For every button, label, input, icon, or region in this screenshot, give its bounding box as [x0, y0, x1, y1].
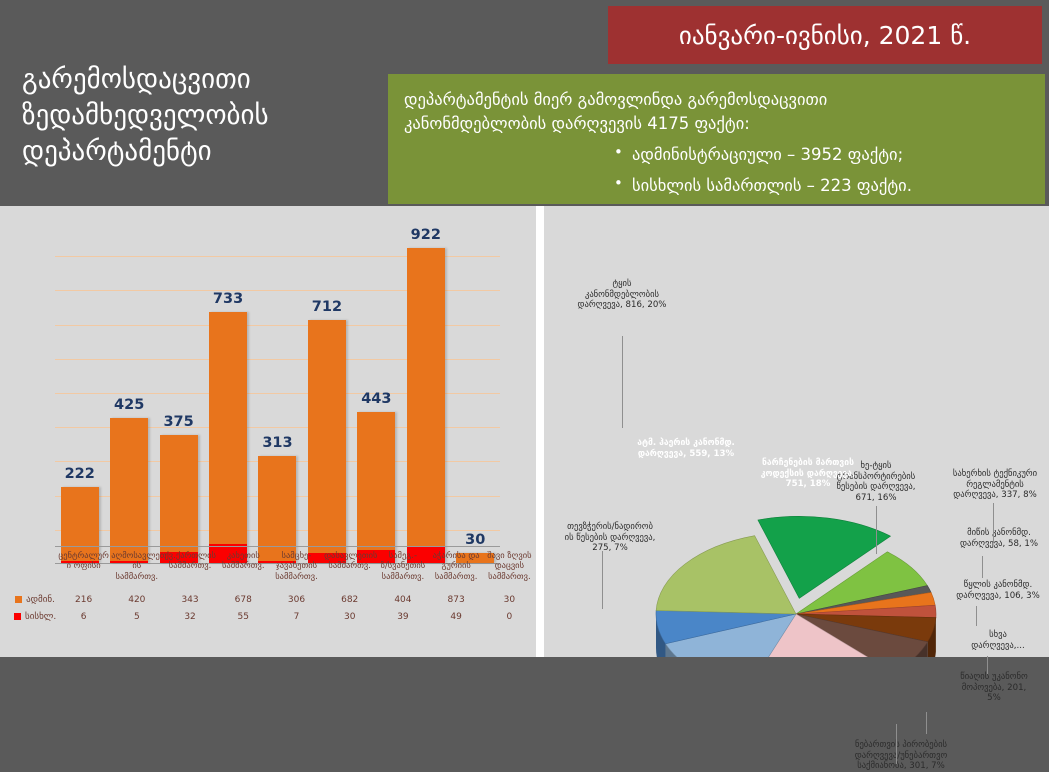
bar-group[interactable]: 733 [203, 222, 252, 563]
legend-label-criminal: სისხლ. [25, 612, 56, 622]
legend-item-administrative: ადმინ. [0, 592, 57, 609]
bar-segment-administrative[interactable] [308, 320, 346, 553]
bar-segment-administrative[interactable] [357, 412, 395, 550]
bar-column[interactable] [407, 248, 445, 563]
pie-slice-label: სახერხის ტექნიკური რეგლამენტის დარღვევა,… [941, 469, 1049, 501]
pie-leader-line [602, 551, 603, 609]
table-category-cell: ცენტრალურ ი ოფისი [57, 546, 110, 592]
table-category-cell: შავი ზღვის დაცვის სამმართვ. [483, 546, 536, 592]
panel-divider [536, 206, 544, 657]
pie-slice-label: ნებართვის პირობების დარღვევა/უნებართვო ს… [826, 740, 976, 772]
bar-segment-administrative[interactable] [110, 418, 148, 562]
bar-segment-administrative[interactable] [160, 435, 198, 552]
bar-value-label: 375 [154, 414, 203, 430]
table-category-cell: აჭარისა და გურიის სამმართვ. [430, 546, 483, 592]
table-value-cell: 55 [217, 609, 270, 626]
table-value-cell: 5 [110, 609, 163, 626]
table-value-cell: 216 [57, 592, 110, 609]
summary-box: დეპარტამენტის მიერ გამოვლინდა გარემოსდაც… [388, 74, 1045, 204]
bar-column[interactable] [209, 312, 247, 563]
pie-chart-area: ხე-ტყის ტრანსპორტირების წესების დარღვევა… [544, 206, 1049, 657]
pie-slice-label: ატმ. ჰაერის კანონმდ. დარღვევა, 559, 13% [622, 438, 750, 459]
pie-leader-line [926, 712, 927, 734]
table-value-cell: 420 [110, 592, 163, 609]
table-value-cell: 678 [217, 592, 270, 609]
slide-header: გარემოსდაცვითი ზედამხედველობის დეპარტამე… [0, 0, 1049, 206]
table-top-rule [55, 546, 500, 547]
table-category-cell: სამცხე- ჯავახეთის სამმართვ. [270, 546, 323, 592]
bar-column[interactable] [308, 320, 346, 564]
table-value-cell: 404 [376, 592, 429, 609]
summary-intro: დეპარტამენტის მიერ გამოვლინდა გარემოსდაც… [404, 88, 1029, 136]
table-value-cell: 7 [270, 609, 323, 626]
page-title: გარემოსდაცვითი ზედამხედველობის დეპარტამე… [22, 62, 372, 170]
bar-column[interactable] [357, 412, 395, 564]
pie-chart-panel: ხე-ტყის ტრანსპორტირების წესების დარღვევა… [544, 206, 1049, 657]
pie-slice-label: მიწის კანონმდ. დარღვევა, 58, 1% [949, 528, 1049, 549]
bar-data-table: ცენტრალურ ი ოფისიაღმოსავლეთ ის სამმართვ.… [0, 546, 536, 656]
bar-value-label: 313 [253, 435, 302, 451]
table-category-cell: სამეგ.- ზ/სვანეთის სამმართვ. [376, 546, 429, 592]
pie-slice-label: თევზჭერის/ნადირობ ის წესების დარღვევა, 2… [549, 522, 671, 554]
pie-leader-line [622, 336, 623, 428]
pie-slice-label: ტყის კანონმდებლობის დარღვევა, 816, 20% [558, 279, 686, 311]
bar-group[interactable]: 30 [451, 222, 500, 563]
bar-segment-administrative[interactable] [209, 312, 247, 544]
table-value-cell: 306 [270, 592, 323, 609]
legend-label-administrative: ადმინ. [26, 595, 55, 605]
bar-value-label: 733 [203, 291, 252, 307]
legend-item-criminal: სისხლ. [0, 609, 57, 626]
table-row: ადმინ. 21642034367830668240487330 [0, 592, 536, 609]
bar-value-label: 712 [302, 299, 351, 315]
bar-group[interactable]: 443 [352, 222, 401, 563]
table-value-cell: 30 [323, 609, 376, 626]
pie-slice-label: წყლის კანონმდ. დარღვევა, 106, 3% [947, 580, 1049, 601]
bar-column[interactable] [110, 418, 148, 563]
pie-leader-line [976, 606, 977, 626]
bar-series-container: 22242537573331371244392230 [55, 222, 500, 563]
bar-plot-area: 22242537573331371244392230 [55, 222, 500, 564]
table-category-cell: კახეთის სამმართვ. [217, 546, 270, 592]
bar-group[interactable]: 375 [154, 222, 203, 563]
table-category-row: ცენტრალურ ი ოფისიაღმოსავლეთ ის სამმართვ.… [0, 546, 536, 592]
table-value-cell: 6 [57, 609, 110, 626]
bar-group[interactable]: 313 [253, 222, 302, 563]
legend-swatch-icon [14, 613, 21, 620]
table-value-cell: 30 [483, 592, 536, 609]
table-row: სისხლ. 65325573039490 [0, 609, 536, 626]
bar-value-label: 922 [401, 227, 450, 243]
table-category-cell: ქვ.ქართლის სამმართვ. [163, 546, 216, 592]
table-value-cell: 682 [323, 592, 376, 609]
summary-bullet-administrative: ადმინისტრაციული – 3952 ფაქტი; [614, 143, 1029, 167]
pie-leader-line [896, 724, 897, 764]
bar-value-label: 443 [352, 391, 401, 407]
pie-slice-label: წიაღის უკანონო მოპოვება, 201, 5% [944, 672, 1044, 704]
pie-slice-label: სხვა დარღვევა,... [952, 630, 1044, 651]
table-value-cell: 0 [483, 609, 536, 626]
table-value-cell: 39 [376, 609, 429, 626]
bar-group[interactable]: 712 [302, 222, 351, 563]
pie-leader-line [876, 506, 877, 554]
pie-leader-line [987, 656, 988, 674]
bar-group[interactable]: 922 [401, 222, 450, 563]
table-category-cell: დასავლეთის სამმართვ. [323, 546, 376, 592]
bar-value-label: 425 [104, 397, 153, 413]
table-value-cell: 32 [163, 609, 216, 626]
summary-bullet-criminal: სისხლის სამართლის – 223 ფაქტი. [614, 174, 1029, 198]
bar-column[interactable] [160, 435, 198, 563]
bar-group[interactable]: 222 [55, 222, 104, 563]
bar-group[interactable]: 425 [104, 222, 153, 563]
table-category-cell: აღმოსავლეთ ის სამმართვ. [110, 546, 163, 592]
summary-bullet-list: ადმინისტრაციული – 3952 ფაქტი; სისხლის სა… [404, 143, 1029, 198]
bar-chart-panel: 22242537573331371244392230 ცენტრალურ ი ო… [0, 206, 536, 657]
pie-slice-label: ნარჩენების მართვის კოდექსის დარღვევა, 75… [742, 458, 874, 490]
table-value-cell: 49 [430, 609, 483, 626]
table-value-cell: 343 [163, 592, 216, 609]
bar-segment-administrative[interactable] [407, 248, 445, 547]
bar-segment-administrative[interactable] [258, 456, 296, 561]
pie-leader-line [982, 556, 983, 578]
legend-swatch-icon [15, 596, 22, 603]
table-value-cell: 873 [430, 592, 483, 609]
charts-region: 22242537573331371244392230 ცენტრალურ ი ო… [0, 206, 1049, 657]
pie-leader-line [993, 503, 994, 543]
table-corner-cell [0, 546, 57, 592]
bar-value-label: 222 [55, 466, 104, 482]
date-banner: იანვარი-ივნისი, 2021 წ. [608, 6, 1042, 64]
